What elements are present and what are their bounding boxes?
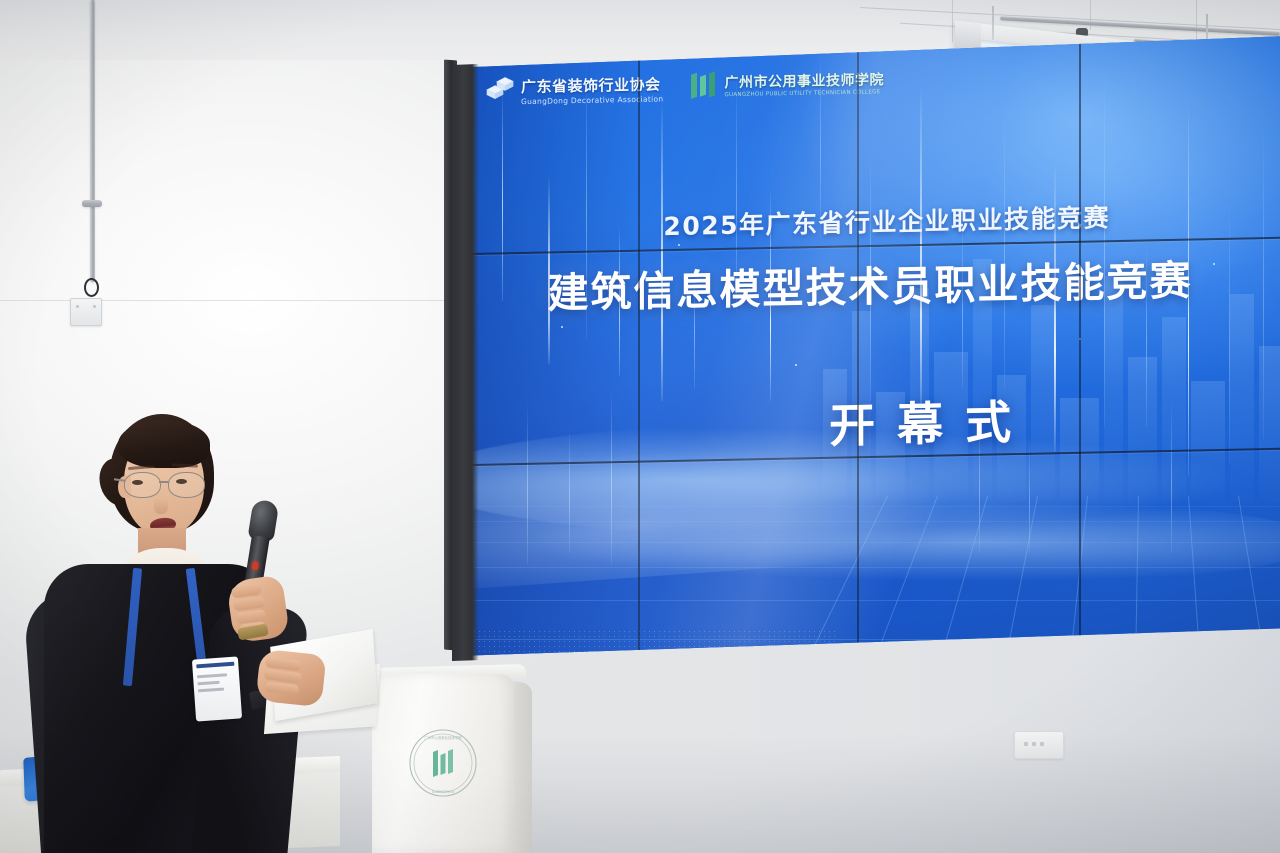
badge-line [197, 681, 219, 685]
wall-seam-horizontal [0, 300, 452, 301]
hair-fringe [118, 420, 210, 468]
socket-hole-1 [1024, 742, 1028, 746]
badge-header-bar [196, 662, 234, 669]
name-badge [192, 656, 242, 721]
presenter [62, 400, 362, 853]
screw-right [93, 305, 96, 308]
video-wall-frame [452, 36, 1280, 666]
college-seal-emblem: 广州市公用事业技师学院 GUANGZHOU [406, 726, 480, 800]
glasses-bridge [159, 481, 169, 483]
eyeglasses [122, 472, 210, 498]
photo-canvas: 广东省装饰行业协会 GuangDong Decorative Associati… [0, 0, 1280, 853]
screw-left [76, 305, 79, 308]
hand-holding-paper [255, 649, 326, 708]
socket-hole-2 [1032, 742, 1036, 746]
badge-line [198, 688, 224, 692]
socket-hole-3 [1040, 742, 1044, 746]
svg-text:GUANGZHOU: GUANGZHOU [432, 790, 455, 794]
video-wall[interactable]: 广东省装饰行业协会 GuangDong Decorative Associati… [452, 36, 1280, 666]
lens-right [168, 472, 205, 498]
ceiling-grid-vline-3 [1090, 0, 1091, 30]
conduit-coupling [82, 200, 102, 207]
lens-left [124, 472, 161, 498]
finger [264, 681, 299, 694]
wall-hook [84, 278, 99, 297]
badge-line [197, 673, 227, 678]
wall-junction-box [70, 298, 102, 326]
svg-text:广州市公用事业技师学院: 广州市公用事业技师学院 [424, 735, 462, 740]
light-suspension-rod-left [992, 6, 994, 40]
nose [154, 498, 168, 514]
wall-conduit-pipe [90, 0, 95, 282]
wall-socket[interactable] [1014, 731, 1064, 759]
slide-micro-text: BUILDING INFORMATION MODELING [1136, 640, 1255, 646]
